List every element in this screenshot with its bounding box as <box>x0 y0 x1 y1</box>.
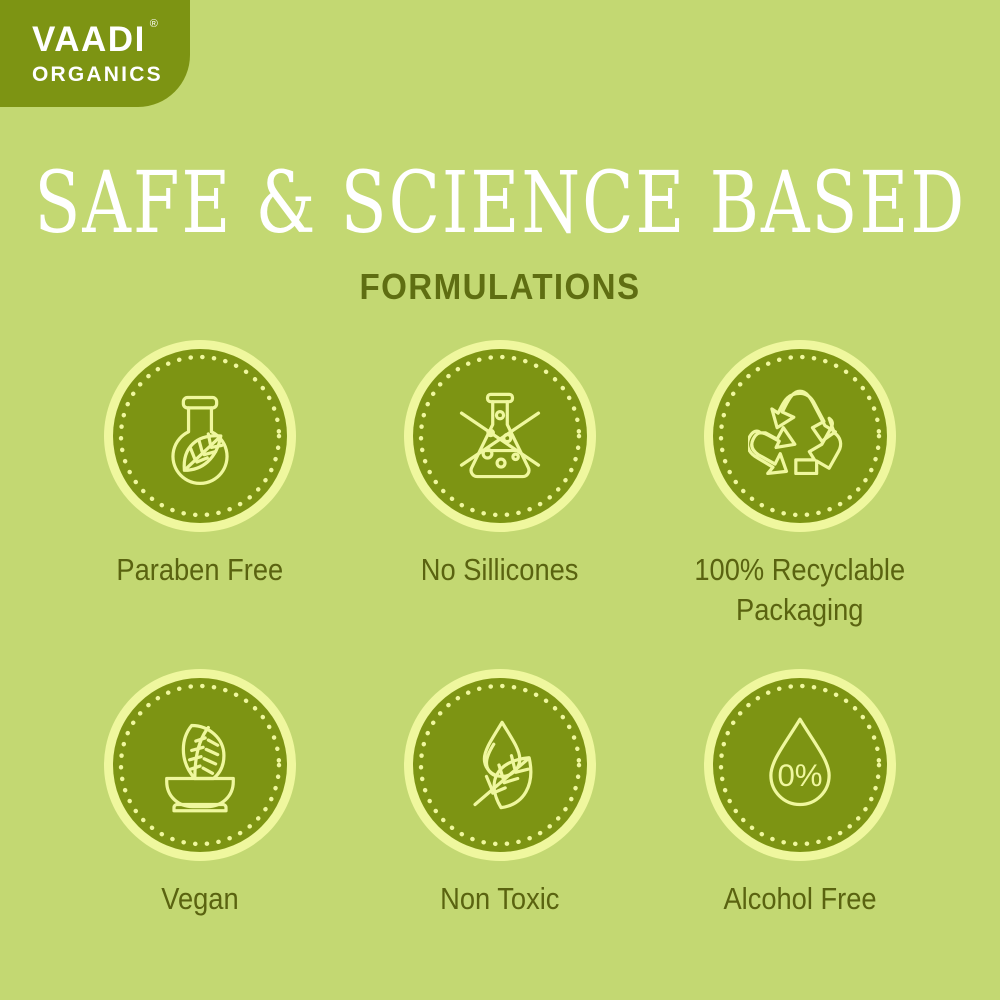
dotted-ring-icon <box>713 349 887 523</box>
feature-item: 0% Alcohol Free <box>650 669 950 919</box>
brand-name: VAADI ® <box>32 22 146 57</box>
badge-disc <box>413 678 587 852</box>
dotted-ring-icon <box>413 349 587 523</box>
dotted-ring-icon <box>113 349 287 523</box>
registered-trademark-icon: ® <box>150 19 158 30</box>
feature-label: Alcohol Free <box>723 879 876 919</box>
brand-name-text: VAADI <box>32 20 146 59</box>
dotted-ring-icon <box>713 678 887 852</box>
brand-tagline: ORGANICS <box>32 64 163 85</box>
brand-logo: VAADI ® ORGANICS <box>0 0 190 107</box>
feature-item: Non Toxic <box>350 669 650 919</box>
badge-disc <box>713 349 887 523</box>
badge-disc <box>413 349 587 523</box>
badge-alcohol-free: 0% <box>704 669 896 861</box>
feature-badge-grid: Paraben Free <box>50 340 950 919</box>
badge-no-silicones <box>404 340 596 532</box>
badge-recyclable-packaging <box>704 340 896 532</box>
badge-disc <box>113 349 287 523</box>
feature-item: No Sillicones <box>350 340 650 629</box>
badge-paraben-free <box>104 340 296 532</box>
page-title: SAFE & SCIENCE BASED <box>34 160 966 245</box>
badge-non-toxic <box>404 669 596 861</box>
page-subtitle: FORMULATIONS <box>40 266 960 308</box>
badge-disc: 0% <box>713 678 887 852</box>
dotted-ring-icon <box>113 678 287 852</box>
header-block: SAFE & SCIENCE BASED FORMULATIONS <box>0 160 1000 308</box>
feature-label: No Sillicones <box>421 550 579 590</box>
feature-label: 100% Recyclable Packaging <box>695 550 906 629</box>
feature-label: Non Toxic <box>440 879 559 919</box>
feature-label: Vegan <box>161 879 238 919</box>
badge-vegan <box>104 669 296 861</box>
feature-item: Vegan <box>50 669 350 919</box>
dotted-ring-icon <box>413 678 587 852</box>
feature-label: Paraben Free <box>117 550 284 590</box>
feature-item: 100% Recyclable Packaging <box>650 340 950 629</box>
feature-item: Paraben Free <box>50 340 350 629</box>
badge-disc <box>113 678 287 852</box>
